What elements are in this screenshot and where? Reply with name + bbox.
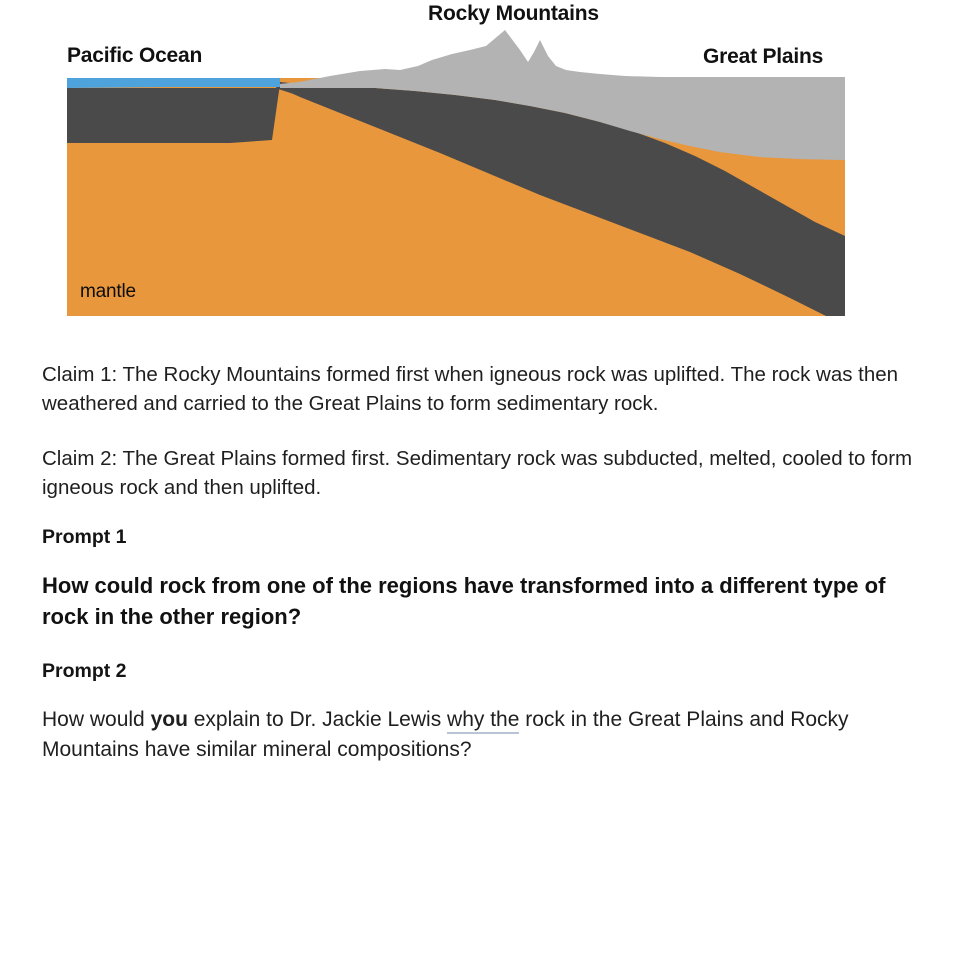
figure-bottom-mask [0,316,968,340]
prompt-1-question: How could rock from one of the regions h… [42,571,932,632]
prompt-2-grammar-suggestion[interactable]: why the [447,708,519,734]
figure-label-great-plains: Great Plains [703,45,823,69]
figure-label-rocky-mountains: Rocky Mountains [428,2,599,26]
claim-1-paragraph: Claim 1: The Rocky Mountains formed firs… [42,360,932,418]
worksheet-body: Claim 1: The Rocky Mountains formed firs… [42,360,932,765]
ocean-water-strip [67,78,280,87]
figure-label-mantle: mantle [80,281,136,303]
cross-section-figure: Rocky Mountains Pacific Ocean Great Plai… [0,0,968,340]
prompt-2-emphasis-you: you [151,708,188,731]
prompt-2-text-a: How would [42,708,151,731]
prompt-2-text-c: explain to Dr. Jackie Lewis [188,708,447,731]
prompt-2-heading: Prompt 2 [42,660,932,683]
claim-2-paragraph: Claim 2: The Great Plains formed first. … [42,444,932,502]
prompt-2-question: How would you explain to Dr. Jackie Lewi… [42,705,932,765]
prompt-1-heading: Prompt 1 [42,526,932,549]
figure-label-pacific-ocean: Pacific Ocean [67,44,202,68]
